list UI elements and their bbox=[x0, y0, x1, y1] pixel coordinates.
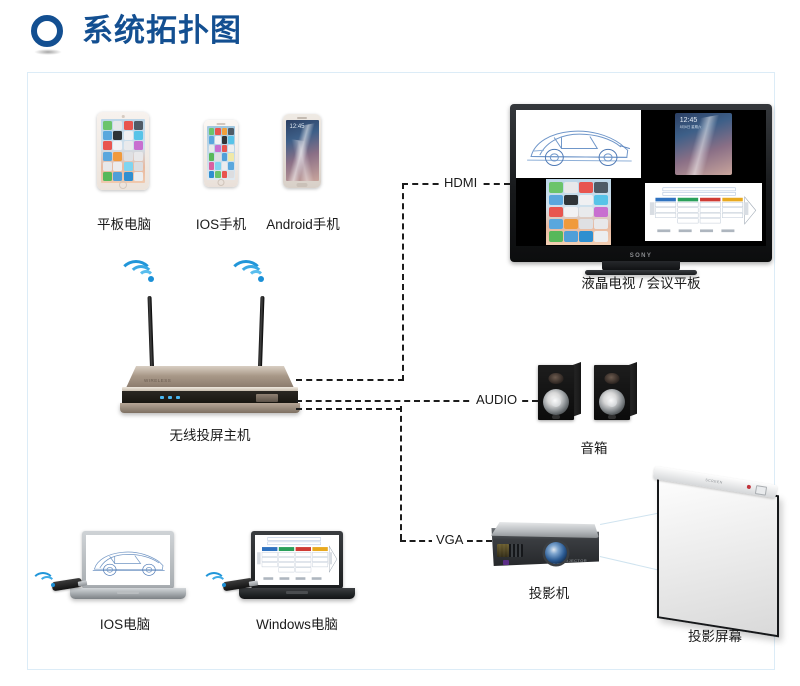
wifi-signal-icon-left bbox=[133, 260, 169, 286]
projector-ir-sensor bbox=[503, 560, 509, 565]
iphone-screen bbox=[207, 126, 235, 180]
projector-lens-icon bbox=[545, 542, 567, 564]
label-windows-laptop: Windows电脑 bbox=[232, 613, 362, 633]
car-sketch-icon bbox=[86, 535, 170, 585]
router-led-indicators bbox=[160, 396, 180, 399]
device-projection-screen: SCREEN bbox=[655, 466, 789, 636]
android-speaker-icon bbox=[297, 117, 307, 119]
android-home-button bbox=[297, 183, 308, 187]
tv-quadrant-car-sketch bbox=[516, 110, 641, 178]
tablet-camera-icon bbox=[122, 115, 125, 118]
wifi-signal-icon-dongle bbox=[42, 572, 64, 589]
wifi-dongle-ios bbox=[42, 572, 88, 594]
speaker-woofer-icon bbox=[599, 389, 625, 415]
vga-line-vertical bbox=[400, 406, 402, 540]
iphone-speaker-icon bbox=[217, 123, 226, 125]
screen-indicator-light bbox=[747, 485, 752, 490]
label-android-phone: Android手机 bbox=[243, 213, 363, 233]
tablet-home-button bbox=[119, 181, 127, 189]
label-projector: 投影机 bbox=[494, 582, 604, 602]
device-lcd-tv: 12:45 8月6日 星期六 bbox=[510, 104, 772, 262]
vga-line-from-router bbox=[296, 408, 402, 410]
connection-label-audio: AUDIO bbox=[472, 392, 521, 407]
ios-laptop-screen bbox=[86, 535, 170, 585]
speaker-right bbox=[594, 362, 638, 420]
device-speakers bbox=[538, 362, 650, 424]
label-speakers: 音箱 bbox=[534, 437, 654, 457]
router-port bbox=[256, 394, 278, 402]
device-projector: PROJECTOR bbox=[487, 518, 605, 576]
wifi-signal-icon-dongle bbox=[213, 572, 235, 589]
windows-laptop-screen bbox=[255, 535, 339, 585]
topology-diagram-page: 系统拓扑图 平板电脑 IOS手机 12 bbox=[0, 0, 800, 686]
wifi-dongle-windows bbox=[213, 572, 259, 594]
label-tv: 液晶电视 / 会议平板 bbox=[541, 272, 741, 292]
speaker-tweeter-icon bbox=[549, 373, 564, 384]
android-screen: 12:45 bbox=[286, 120, 319, 181]
circle-ring-shadow bbox=[34, 49, 62, 55]
tv-quadrant-android-mirror: 12:45 8月6日 星期六 bbox=[641, 110, 766, 178]
wifi-signal-icon-right bbox=[243, 260, 279, 286]
tv-quadrant-spreadsheet-mirror bbox=[641, 178, 766, 246]
tv-android-date: 8月6日 星期六 bbox=[680, 126, 702, 129]
device-tablet bbox=[97, 112, 149, 190]
device-wireless-router: WIRELESS bbox=[120, 258, 300, 418]
tv-android-clock: 12:45 bbox=[680, 117, 698, 124]
spreadsheet-icon bbox=[255, 535, 339, 585]
router-body: WIRELESS bbox=[120, 366, 300, 414]
speaker-woofer-icon bbox=[543, 389, 569, 415]
connection-label-vga: VGA bbox=[432, 532, 467, 547]
device-android-phone: 12:45 bbox=[283, 114, 321, 188]
screen-control-button[interactable] bbox=[755, 485, 767, 496]
car-sketch-icon bbox=[516, 110, 641, 178]
android-clock: 12:45 bbox=[290, 124, 305, 130]
label-router: 无线投屏主机 bbox=[148, 424, 272, 444]
page-title: 系统拓扑图 bbox=[82, 11, 242, 51]
speaker-tweeter-icon bbox=[605, 373, 620, 384]
label-ios-laptop: IOS电脑 bbox=[66, 613, 184, 633]
device-ios-phone bbox=[204, 120, 238, 187]
spreadsheet-icon bbox=[648, 186, 760, 238]
tv-quadrant-tablet-mirror bbox=[516, 178, 641, 246]
connection-label-hdmi: HDMI bbox=[440, 175, 481, 190]
hdmi-line-from-router bbox=[296, 379, 404, 381]
circle-ring-icon bbox=[31, 15, 63, 47]
label-projection-screen: 投影屏幕 bbox=[653, 625, 777, 645]
iphone-home-button bbox=[218, 179, 225, 186]
tv-screen: 12:45 8月6日 星期六 bbox=[516, 110, 766, 246]
hdmi-line-vertical bbox=[402, 183, 404, 381]
page-header: 系统拓扑图 bbox=[0, 0, 800, 72]
speaker-left bbox=[538, 362, 582, 420]
tablet-screen bbox=[101, 119, 145, 183]
tv-brand-logo: SONY bbox=[630, 253, 653, 259]
projection-screen-cloth bbox=[657, 476, 779, 637]
